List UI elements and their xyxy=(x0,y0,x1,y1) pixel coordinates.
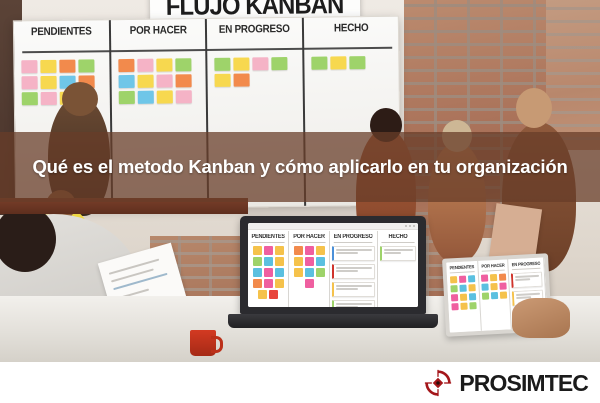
sticky-note xyxy=(156,90,172,103)
sticky-note xyxy=(41,76,57,89)
tablet-board-note-group xyxy=(449,275,478,310)
coffee-mug xyxy=(190,330,216,356)
brick-wall-right xyxy=(546,0,600,150)
window-dot-3 xyxy=(413,225,415,227)
sticky-note xyxy=(349,56,365,69)
tablet-board-note[interactable] xyxy=(469,293,476,300)
tablet-board-note[interactable] xyxy=(468,284,475,291)
tablet-board-task-card[interactable] xyxy=(547,271,548,287)
sticky-note xyxy=(175,74,191,87)
window-dot-1 xyxy=(405,225,407,227)
tablet-board-note[interactable] xyxy=(450,276,457,283)
tablet-board-note[interactable] xyxy=(451,303,458,310)
laptop-board-note[interactable] xyxy=(269,290,278,299)
sticky-note xyxy=(271,57,287,70)
laptop-board-note[interactable] xyxy=(294,257,303,266)
laptop-board-column-header: POR HACER xyxy=(293,234,326,243)
tablet-board-note[interactable] xyxy=(491,292,498,299)
sticky-note xyxy=(175,90,191,103)
tablet-board-note[interactable] xyxy=(499,283,506,290)
sticky-note xyxy=(59,60,75,73)
sticky-note xyxy=(118,75,134,88)
tablet-board-note[interactable] xyxy=(481,274,488,281)
laptop-screen: PENDIENTESPOR HACEREN PROGRESOHECHO xyxy=(248,223,418,307)
sticky-note xyxy=(252,57,268,70)
laptop-board-note[interactable] xyxy=(253,268,262,277)
laptop-board-note[interactable] xyxy=(275,279,284,288)
laptop-board-note-group xyxy=(291,246,327,288)
sticky-note xyxy=(118,59,134,72)
tablet-board-note[interactable] xyxy=(459,285,466,292)
laptop-board-note[interactable] xyxy=(264,279,273,288)
sticky-note xyxy=(78,59,94,72)
laptop-board-note[interactable] xyxy=(253,257,262,266)
laptop-board-column-header: EN PROGRESO xyxy=(334,234,373,243)
article-hero-card: FLUJO KANBAN PENDIENTESPOR HACEREN PROGR… xyxy=(0,0,600,403)
brand-name: PROSIMTEC xyxy=(459,372,588,395)
laptop-board-task-card[interactable] xyxy=(332,282,374,297)
tablet-board-note[interactable] xyxy=(481,283,488,290)
sticky-note xyxy=(330,56,346,69)
tablet-board-note-group xyxy=(481,274,507,300)
tablet-board-note[interactable] xyxy=(460,294,467,301)
laptop-board-note[interactable] xyxy=(258,290,267,299)
laptop-board-task-card[interactable] xyxy=(380,246,416,261)
laptop-board-note[interactable] xyxy=(275,257,284,266)
tablet-board-note[interactable] xyxy=(468,275,475,282)
laptop-board-task-card[interactable] xyxy=(332,300,374,307)
laptop-board-note[interactable] xyxy=(253,279,262,288)
laptop-board-note[interactable] xyxy=(316,257,325,266)
tablet-board-note[interactable] xyxy=(490,283,497,290)
person-head-5 xyxy=(516,88,552,128)
laptop-board-note[interactable] xyxy=(264,257,273,266)
laptop-board-column-3: HECHO xyxy=(378,231,418,307)
laptop-board-note[interactable] xyxy=(294,268,303,277)
laptop-board-note[interactable] xyxy=(305,279,314,288)
laptop-board-note-group xyxy=(250,246,286,299)
tablet-board-note[interactable] xyxy=(500,291,507,298)
tablet-board-column-header: PENDIENTES xyxy=(449,264,474,273)
laptop-board-note[interactable] xyxy=(275,246,284,255)
laptop-board-note[interactable] xyxy=(305,257,314,266)
laptop-board-column-header: PENDIENTES xyxy=(251,234,284,243)
tablet-board-note[interactable] xyxy=(499,274,506,281)
tablet-board-column-1: POR HACER xyxy=(478,259,512,330)
sticky-note xyxy=(40,60,56,73)
sticky-note xyxy=(137,75,153,88)
laptop: PENDIENTESPOR HACEREN PROGRESOHECHO xyxy=(240,216,426,328)
tablet-board-task-card[interactable] xyxy=(511,272,543,289)
tablet-board-column-0: PENDIENTES xyxy=(446,261,481,333)
laptop-board-note[interactable] xyxy=(294,246,303,255)
hero-photo: FLUJO KANBAN PENDIENTESPOR HACEREN PROGR… xyxy=(0,0,600,362)
person-head-1 xyxy=(62,82,98,116)
laptop-board-column-header: HECHO xyxy=(381,234,414,243)
laptop-board-column-1: POR HACER xyxy=(289,231,330,307)
sticky-note xyxy=(214,58,230,71)
footer-bar: PROSIMTEC xyxy=(0,362,600,403)
whiteboard-column-header: HECHO xyxy=(308,22,393,35)
laptop-board-note[interactable] xyxy=(264,246,273,255)
laptop-board-note[interactable] xyxy=(264,268,273,277)
laptop-board-column-0: PENDIENTES xyxy=(248,231,289,307)
laptop-board-note[interactable] xyxy=(316,246,325,255)
tablet-board-column-header: HECHO xyxy=(547,260,548,269)
app-window-titlebar xyxy=(248,223,418,230)
whiteboard-column-header: EN PROGRESO xyxy=(212,23,297,36)
sticky-note xyxy=(22,92,38,105)
laptop-board-column-2: EN PROGRESO xyxy=(330,231,377,307)
laptop-board-note[interactable] xyxy=(316,268,325,277)
digital-kanban-board: PENDIENTESPOR HACEREN PROGRESOHECHO xyxy=(248,231,418,307)
laptop-board-note[interactable] xyxy=(305,268,314,277)
sticky-note xyxy=(21,60,37,73)
tablet-board-column-header: POR HACER xyxy=(481,263,505,272)
sticky-note xyxy=(215,74,231,87)
laptop-board-note[interactable] xyxy=(253,246,262,255)
tablet-board-note[interactable] xyxy=(450,285,457,292)
title-overlay-band: Qué es el metodo Kanban y cómo aplicarlo… xyxy=(0,132,600,202)
laptop-board-note[interactable] xyxy=(305,246,314,255)
tablet-board-note[interactable] xyxy=(482,292,489,299)
sticky-note xyxy=(156,74,172,87)
sticky-note xyxy=(233,57,249,70)
tablet-board-note[interactable] xyxy=(490,274,497,281)
sticky-note xyxy=(137,91,153,104)
brand-logo[interactable]: PROSIMTEC xyxy=(424,369,588,397)
window-dot-2 xyxy=(409,225,411,227)
tablet-board-note[interactable] xyxy=(460,303,467,310)
sticky-note xyxy=(175,58,191,71)
laptop-board-note[interactable] xyxy=(275,268,284,277)
tablet-board-column-header: EN PROGRESO xyxy=(512,261,541,270)
tablet-board-note[interactable] xyxy=(451,294,458,301)
sticky-note xyxy=(156,58,172,71)
tablet-board-note[interactable] xyxy=(469,302,476,309)
laptop-board-task-card[interactable] xyxy=(332,264,374,279)
laptop-keyboard-base xyxy=(228,314,438,328)
laptop-board-task-card[interactable] xyxy=(332,246,374,261)
hand-on-tablet xyxy=(512,298,570,338)
article-title: Qué es el metodo Kanban y cómo aplicarlo… xyxy=(32,155,567,179)
laptop-lid: PENDIENTESPOR HACEREN PROGRESOHECHO xyxy=(240,216,426,314)
whiteboard-column-header: PENDIENTES xyxy=(19,25,104,38)
sticky-note xyxy=(311,57,327,70)
tablet-board-note[interactable] xyxy=(459,276,466,283)
sticky-note xyxy=(137,59,153,72)
sticky-note xyxy=(234,73,250,86)
sticky-note xyxy=(22,76,38,89)
crosshair-target-icon xyxy=(424,369,452,397)
whiteboard-column-header: POR HACER xyxy=(115,24,200,37)
sticky-note xyxy=(41,92,57,105)
sticky-note xyxy=(118,91,134,104)
